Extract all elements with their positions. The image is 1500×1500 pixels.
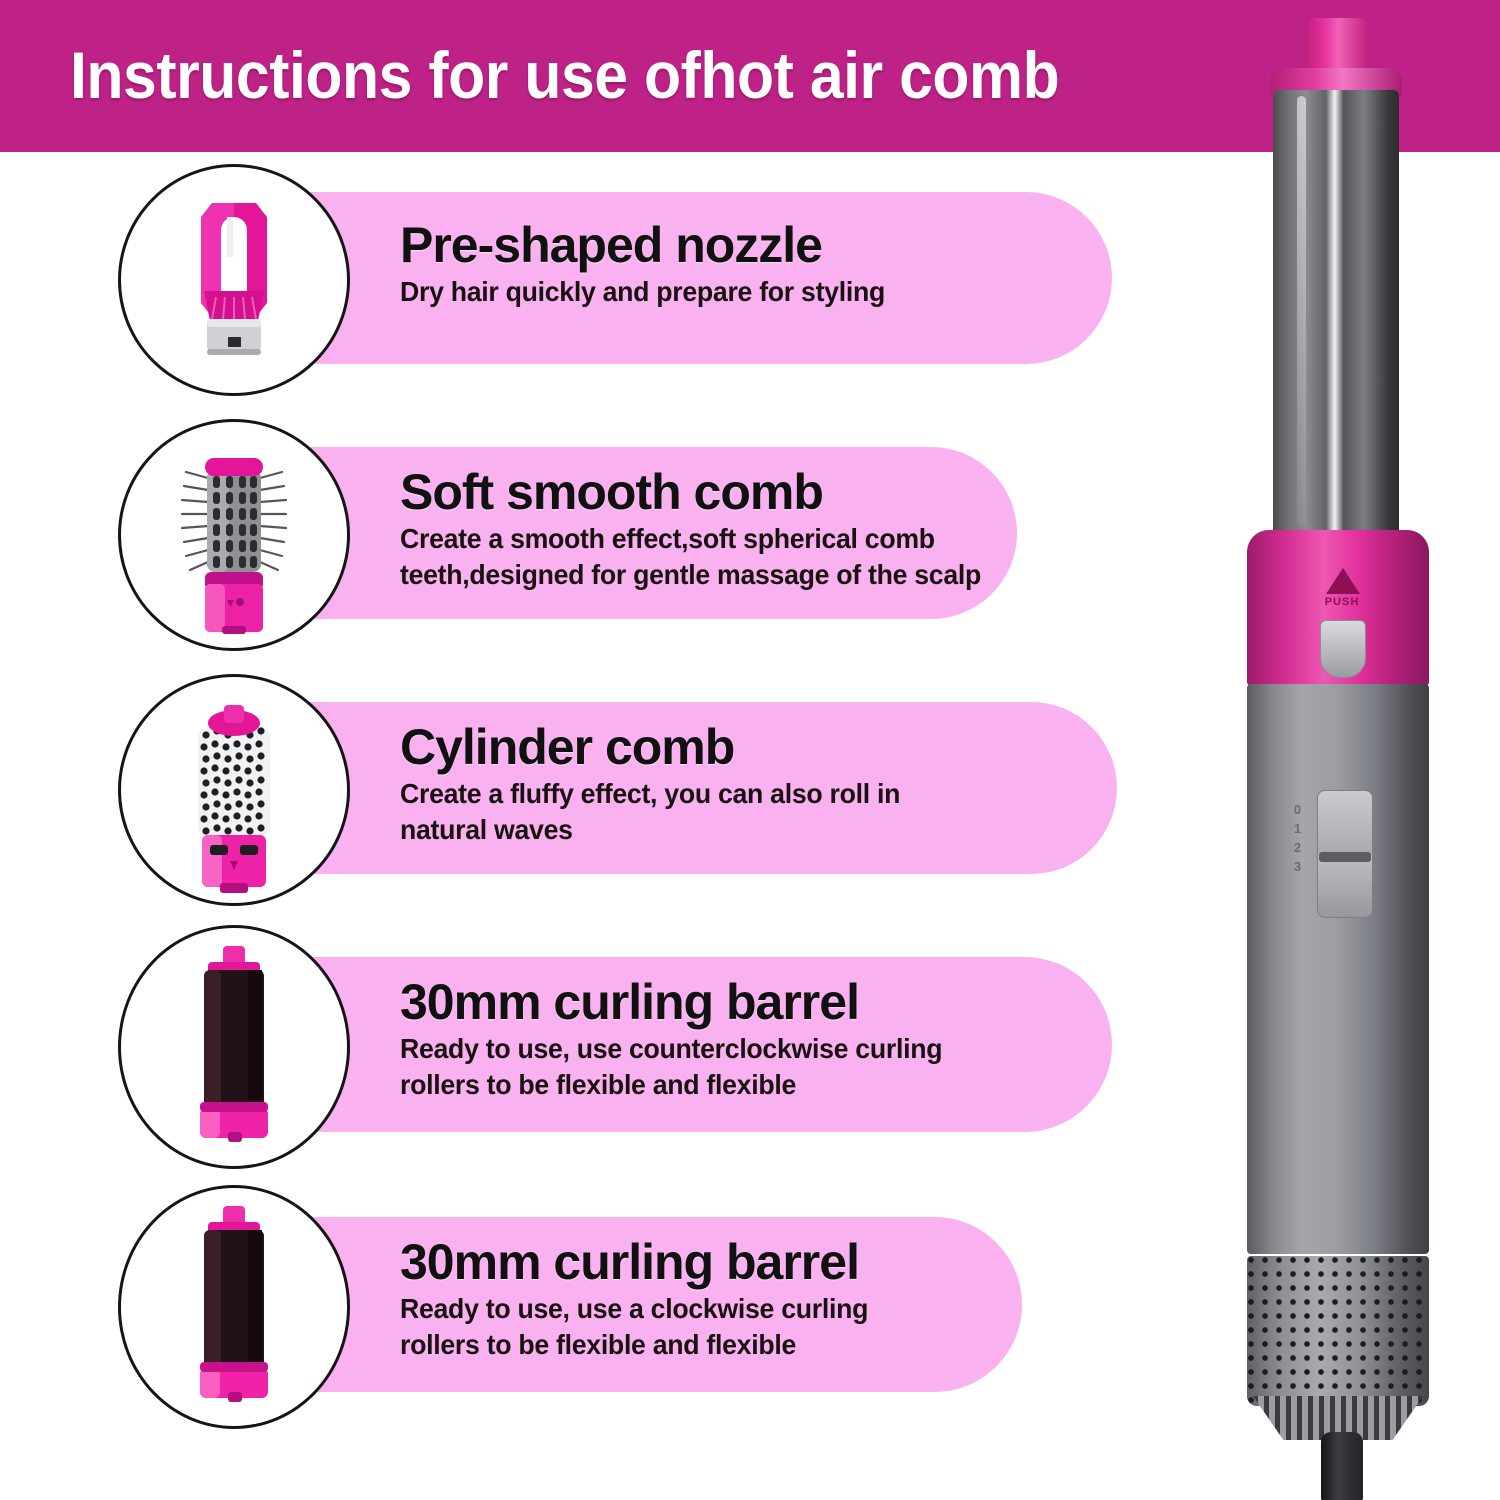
power-switch-scale-labels: 0123 <box>1283 800 1313 876</box>
feature-icon-circle <box>118 674 350 906</box>
cylinder-comb-icon <box>121 677 347 903</box>
curling-barrel-counterclockwise-icon <box>121 928 347 1166</box>
feature-title: Pre-shaped nozzle <box>400 216 1090 274</box>
feature-title: Cylinder comb <box>400 718 1090 776</box>
device-barrel-attachment <box>1273 90 1399 545</box>
feature-description-line: natural waves <box>400 812 1069 848</box>
feature-description-line: Create a smooth effect,soft spherical co… <box>400 521 1069 557</box>
product-device-image: PUSH 0123 <box>1185 0 1500 1500</box>
feature-text: 30mm curling barrel Ready to use, use a … <box>400 1233 1090 1363</box>
product-infographic: Instructions for use ofhot air comb <box>0 0 1500 1500</box>
feature-text: Soft smooth comb Create a smooth effect,… <box>400 463 1090 593</box>
push-triangle-icon <box>1326 568 1360 594</box>
feature-title: Soft smooth comb <box>400 463 1090 521</box>
feature-description-line: teeth,designed for gentle massage of the… <box>400 557 1069 593</box>
feature-icon-circle <box>118 164 350 396</box>
page-title: Instructions for use ofhot air comb <box>70 36 1202 114</box>
feature-icon-circle <box>118 925 350 1169</box>
feature-description-line: rollers to be flexible and flexible <box>400 1327 1069 1363</box>
push-label: PUSH <box>1315 596 1369 608</box>
feature-description-line: rollers to be flexible and flexible <box>400 1067 1069 1103</box>
attachment-release-button[interactable] <box>1320 620 1366 678</box>
feature-icon-circle <box>118 1185 350 1429</box>
feature-title: 30mm curling barrel <box>400 1233 1090 1291</box>
power-switch-knob[interactable] <box>1319 852 1371 862</box>
feature-text: 30mm curling barrel Ready to use, use co… <box>400 973 1090 1103</box>
device-handle-body <box>1247 684 1429 1254</box>
curling-barrel-clockwise-icon <box>121 1188 347 1426</box>
feature-description-line: Ready to use, use counterclockwise curli… <box>400 1031 1069 1067</box>
feature-description: Ready to use, use counterclockwise curli… <box>400 1031 1069 1103</box>
device-barrel-highlight <box>1297 96 1306 526</box>
feature-text: Cylinder comb Create a fluffy effect, yo… <box>400 718 1090 848</box>
feature-description-line: Dry hair quickly and prepare for styling <box>400 274 1069 310</box>
air-intake-vent <box>1247 1256 1429 1406</box>
feature-description-line: Create a fluffy effect, you can also rol… <box>400 776 1069 812</box>
soft-smooth-comb-icon <box>121 422 347 648</box>
feature-description-line: Ready to use, use a clockwise curling <box>400 1291 1069 1327</box>
feature-description: Ready to use, use a clockwise curling ro… <box>400 1291 1069 1363</box>
feature-icon-circle <box>118 419 350 651</box>
feature-description: Dry hair quickly and prepare for styling <box>400 274 1069 310</box>
feature-text: Pre-shaped nozzle Dry hair quickly and p… <box>400 216 1090 310</box>
feature-description: Create a smooth effect,soft spherical co… <box>400 521 1069 593</box>
power-cord <box>1321 1432 1363 1500</box>
feature-list: Pre-shaped nozzle Dry hair quickly and p… <box>0 152 1210 1500</box>
feature-title: 30mm curling barrel <box>400 973 1090 1031</box>
pre-shaped-nozzle-icon <box>121 167 347 393</box>
feature-description: Create a fluffy effect, you can also rol… <box>400 776 1069 848</box>
